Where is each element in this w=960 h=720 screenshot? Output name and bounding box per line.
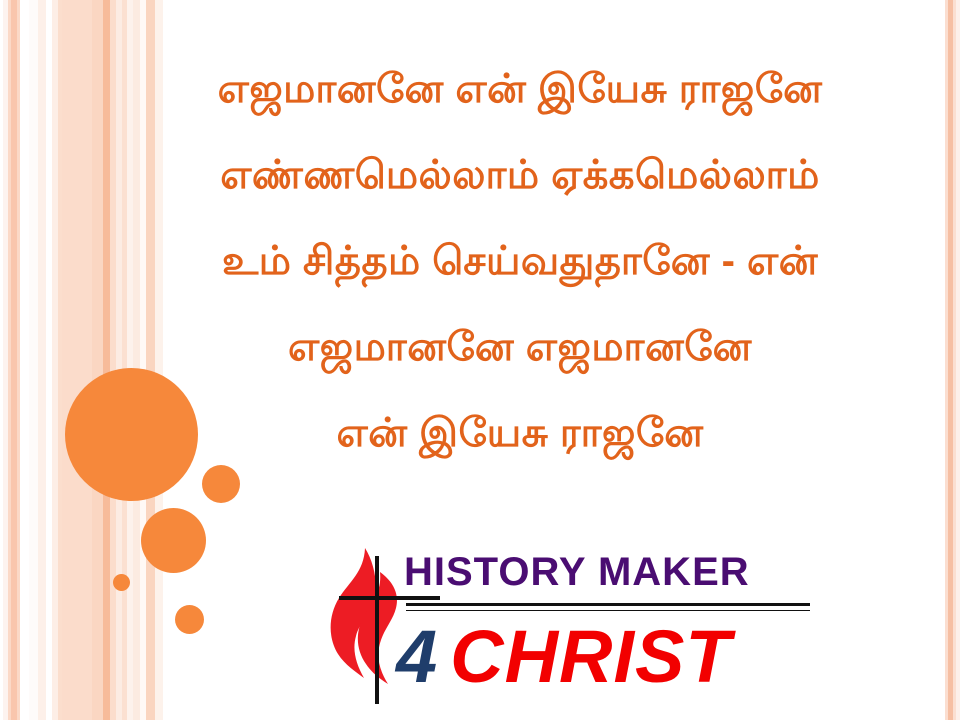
lyric-line-5: என் இயேசு ராஜனே	[110, 390, 930, 476]
logo-4-christ-line: 4CHRIST	[396, 614, 836, 700]
right-border-decoration	[942, 0, 960, 720]
lyric-line-2: எண்ணமெல்லாம் ஏக்கமெல்லாம்	[110, 132, 930, 218]
logo-divider-thick	[406, 603, 810, 606]
lyric-line-4: எஜமானனே எஜமானனே	[110, 304, 930, 390]
circle-small-lower	[175, 605, 204, 634]
circle-medium	[141, 508, 206, 573]
lyrics-block: எஜமானனே என் இயேசு ராஜனே எண்ணமெல்லாம் ஏக்…	[110, 46, 930, 476]
logo-wordmark: HISTORY MAKER 4CHRIST	[404, 542, 818, 704]
lyric-line-3: உம் சித்தம் செய்வதுதானே - என்	[110, 218, 930, 304]
presentation-slide: எஜமானனே என் இயேசு ராஜனே எண்ணமெல்லாம் ஏக்…	[0, 0, 960, 720]
lyric-line-1: எஜமானனே என் இயேசு ராஜனே	[110, 46, 930, 132]
history-maker-4-christ-logo: HISTORY MAKER 4CHRIST	[318, 542, 818, 704]
logo-history-maker-text: HISTORY MAKER	[404, 548, 818, 596]
logo-divider-thin	[406, 610, 810, 611]
logo-number-4: 4	[396, 615, 436, 698]
circle-tiny	[113, 574, 130, 591]
logo-christ-text: CHRIST	[436, 615, 731, 698]
